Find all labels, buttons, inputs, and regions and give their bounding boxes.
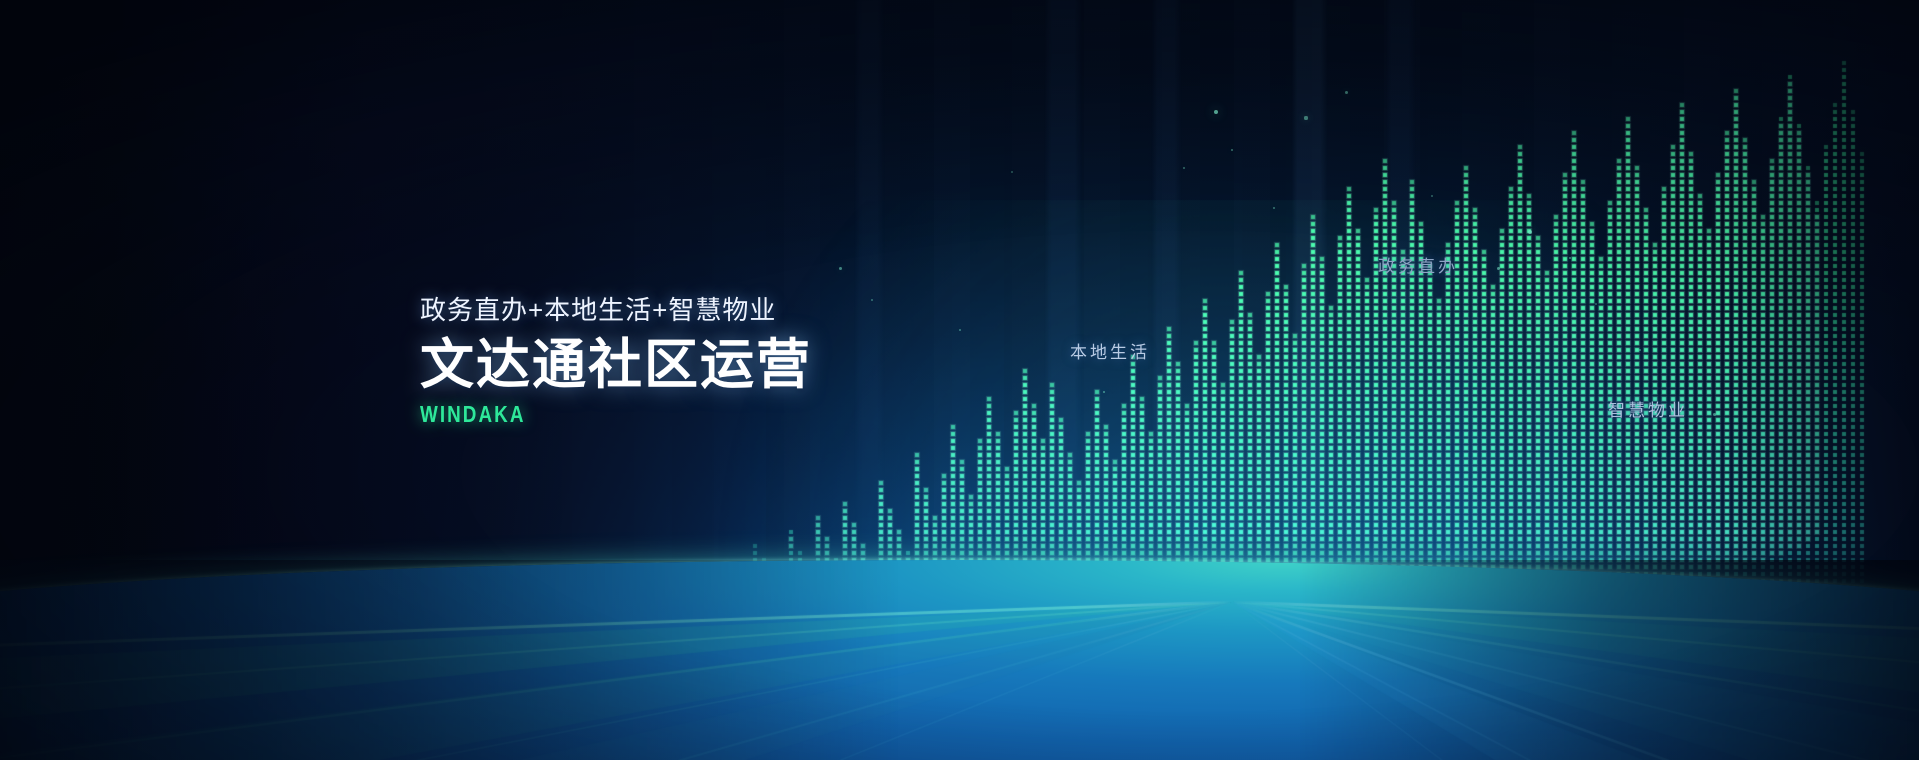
building-label-government: 政务直办 <box>1378 252 1458 277</box>
building-label-smart-property: 智慧物业 <box>1608 396 1688 421</box>
particle-dot <box>1497 267 1500 270</box>
ground-left-shade <box>0 560 900 760</box>
particle-dot <box>1345 91 1348 94</box>
brand-wordmark: WINDAKA <box>420 401 741 428</box>
hero-text-block: 政务直办+本地生活+智慧物业 文达通社区运营 WINDAKA <box>420 290 812 428</box>
particle-dot <box>1304 116 1307 119</box>
particle-dot <box>1713 413 1716 416</box>
particle-dot <box>1528 230 1532 234</box>
hero-subtitle: 政务直办+本地生活+智慧物业 <box>420 290 812 327</box>
hero-title: 文达通社区运营 <box>420 335 812 395</box>
hero-banner: 本地生活 政务直办 智慧物业 政务直办+本地生活+智慧物业 文达通社区运营 WI… <box>0 0 1919 760</box>
building-label-local-life: 本地生活 <box>1070 338 1150 363</box>
particle-dot <box>839 267 842 270</box>
ground-right-shade <box>1299 560 1919 760</box>
